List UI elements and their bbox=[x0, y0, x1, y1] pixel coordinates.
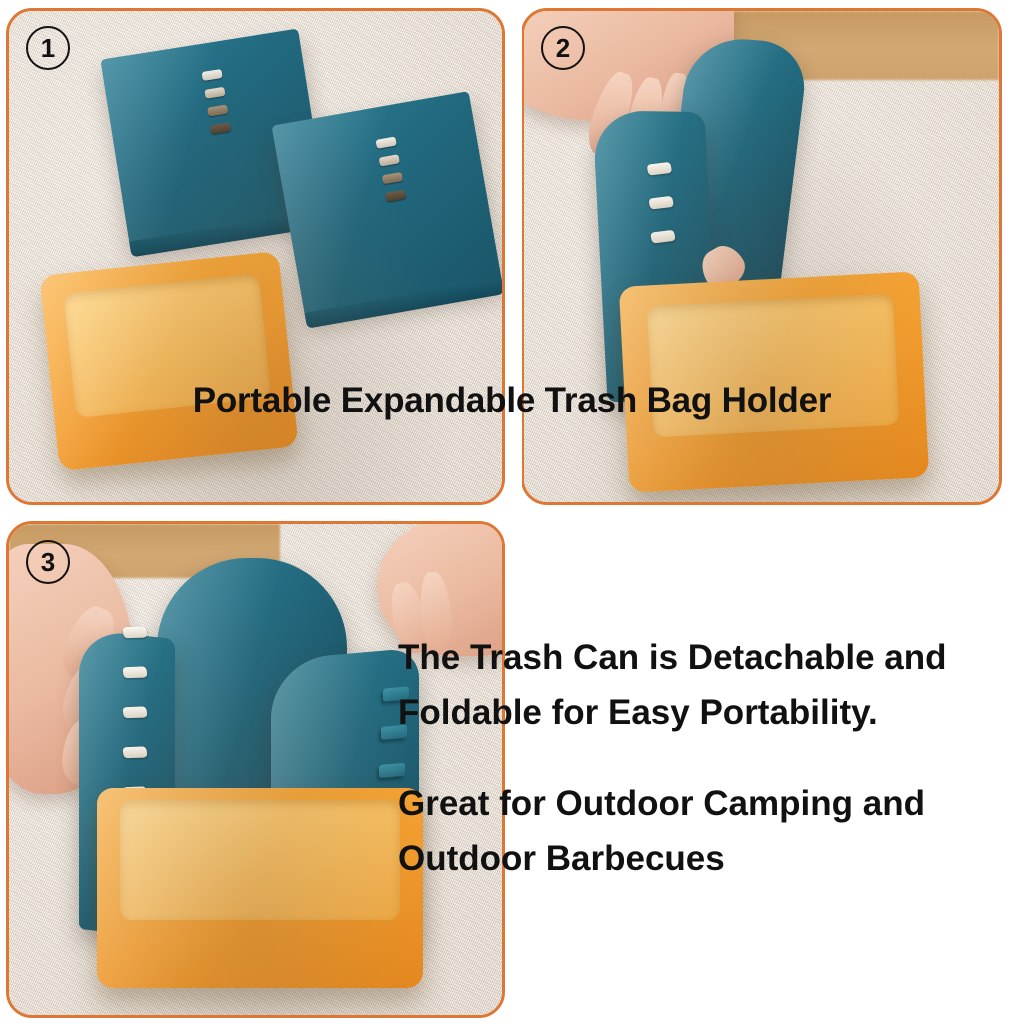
product-panel-2 bbox=[521, 8, 1002, 505]
copy-line-1: The Trash Can is Detachable and bbox=[398, 640, 1022, 675]
step-badge-1: 1 bbox=[26, 26, 70, 70]
feature-copy-block: The Trash Can is Detachable and Foldable… bbox=[398, 640, 1022, 896]
copy-line-4: Outdoor Barbecues bbox=[398, 841, 1022, 876]
copy-line-2: Foldable for Easy Portability. bbox=[398, 695, 1022, 730]
panel-gutter bbox=[505, 0, 522, 512]
copy-line-3: Great for Outdoor Camping and bbox=[398, 786, 1022, 821]
product-panel-1 bbox=[6, 8, 505, 505]
step-badge-2: 2 bbox=[541, 26, 585, 70]
panel-2-photo bbox=[524, 11, 999, 502]
scene-shadow bbox=[524, 11, 999, 502]
panel-1-photo bbox=[9, 11, 502, 502]
copy-spacer bbox=[398, 750, 1022, 786]
scene-shadow bbox=[9, 11, 502, 502]
headline-title: Portable Expandable Trash Bag Holder bbox=[0, 381, 1024, 421]
step-badge-3: 3 bbox=[26, 540, 70, 584]
